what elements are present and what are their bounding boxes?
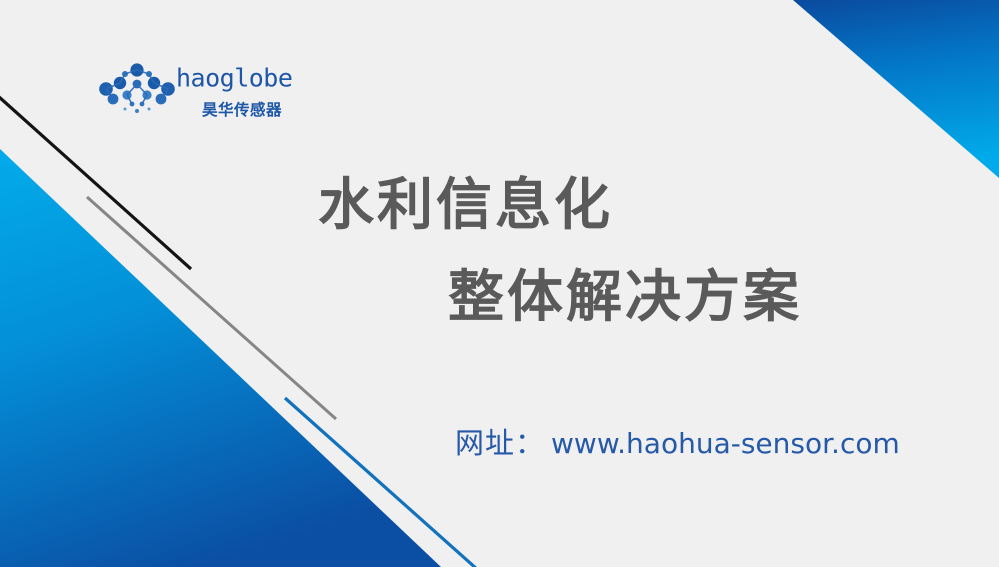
title-line-2: 整体解决方案 — [448, 252, 940, 344]
wordmark-text: haoglobe — [176, 64, 292, 93]
title-line-1: 水利信息化 — [318, 160, 940, 252]
website-url[interactable]: www.haohua-sensor.com — [551, 427, 900, 460]
title-slide: haoglobe 昊华传感器 水利信息化 整体解决方案 网址： www.haoh… — [0, 0, 999, 567]
website-label: 网址： — [455, 420, 545, 462]
haoglobe-wordmark: haoglobe — [176, 57, 326, 99]
company-logo[interactable]: haoglobe 昊华传感器 — [98, 57, 328, 127]
website-line: 网址： www.haohua-sensor.com — [455, 420, 900, 462]
haoglobe-network-dots-icon — [98, 62, 176, 120]
logo-chinese-name: 昊华传感器 — [202, 98, 282, 120]
page-title: 水利信息化 整体解决方案 — [300, 160, 940, 344]
